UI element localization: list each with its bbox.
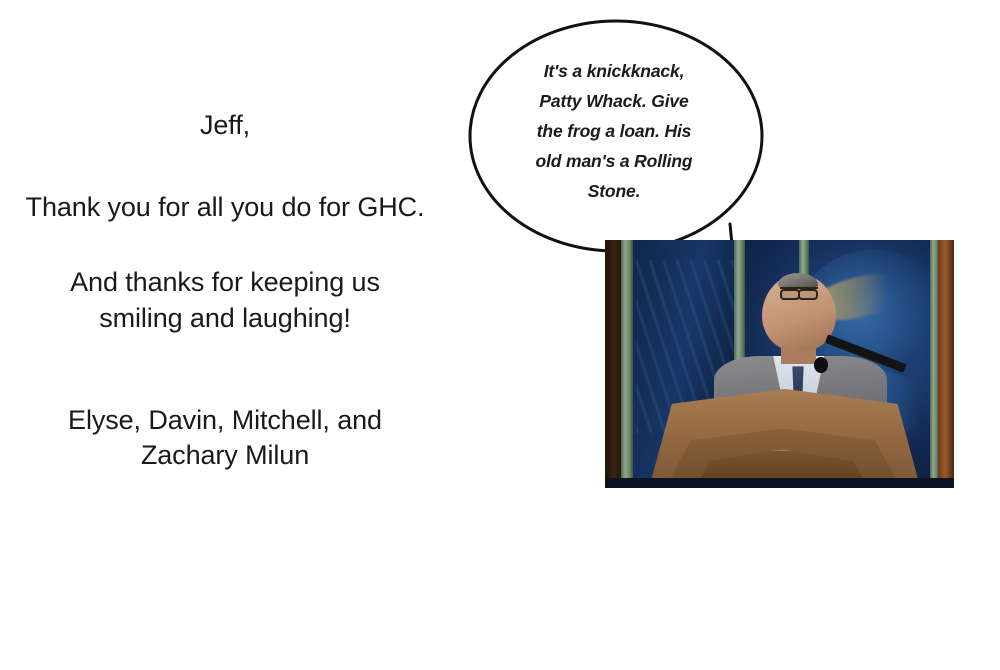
wall-edge-right bbox=[938, 240, 954, 488]
message-line-1: Thank you for all you do for GHC. bbox=[0, 190, 450, 226]
lens-left bbox=[780, 289, 800, 300]
photo-content bbox=[605, 240, 954, 488]
bubble-line-1: It's a knickknack, bbox=[500, 56, 728, 86]
signature-line-2: Zachary Milun bbox=[0, 438, 450, 474]
speaker-photo bbox=[605, 240, 954, 488]
spacer-1 bbox=[0, 144, 450, 190]
eyeglasses bbox=[780, 287, 818, 296]
floor-strip bbox=[605, 478, 954, 488]
signature-line-1: Elyse, Davin, Mitchell, and bbox=[0, 403, 450, 439]
thank-you-slide: Jeff, Thank you for all you do for GHC. … bbox=[0, 0, 1000, 670]
bubble-line-4: old man's a Rolling bbox=[500, 146, 728, 176]
message-line-2b: smiling and laughing! bbox=[0, 301, 450, 337]
wall-edge-left bbox=[605, 240, 621, 488]
message-line-2a: And thanks for keeping us bbox=[0, 265, 450, 301]
bubble-line-2: Patty Whack. Give bbox=[500, 86, 728, 116]
lens-right bbox=[798, 289, 818, 300]
bubble-line-5: Stone. bbox=[500, 176, 728, 206]
spacer-3 bbox=[0, 337, 450, 403]
microphone-head bbox=[814, 357, 829, 373]
speech-bubble-text: It's a knickknack, Patty Whack. Give the… bbox=[500, 56, 728, 206]
window-mullion-4 bbox=[930, 240, 939, 488]
message-block: Jeff, Thank you for all you do for GHC. … bbox=[0, 108, 450, 474]
message-greeting: Jeff, bbox=[0, 108, 450, 144]
window-mullion-1 bbox=[621, 240, 633, 488]
bubble-line-3: the frog a loan. His bbox=[500, 116, 728, 146]
spacer-2 bbox=[0, 225, 450, 265]
